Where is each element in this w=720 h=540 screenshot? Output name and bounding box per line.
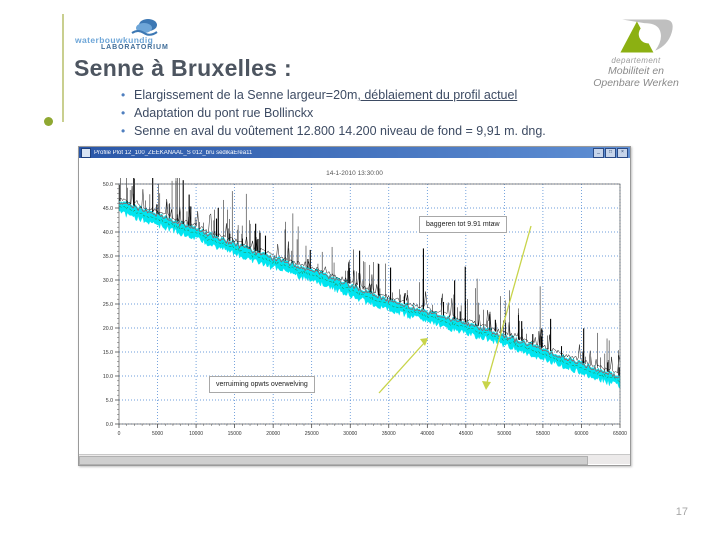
annotation-verruiming: verruiming opwts overwelving [209,376,315,393]
svg-text:50.0: 50.0 [103,182,113,188]
app-icon [81,148,91,158]
minimize-button[interactable]: _ [593,148,604,158]
profile-chart[interactable]: 0.05.010.015.020.025.030.035.040.045.050… [79,178,630,460]
svg-text:10.0: 10.0 [103,374,113,380]
chart-canvas: 0.05.010.015.020.025.030.035.040.045.050… [79,178,630,460]
svg-text:0.0: 0.0 [106,422,113,428]
logo-line-2: LABORATORIUM [101,44,169,51]
svg-text:40.0: 40.0 [103,230,113,236]
svg-text:5000: 5000 [152,431,163,437]
window-title-text: Profile Plot 12_100_ZEEKANAAL_S 012_bru … [94,150,252,156]
svg-text:5.0: 5.0 [106,398,113,404]
svg-text:30000: 30000 [343,431,357,437]
bullet-text-3: Senne en aval du voûtement 12.800 14.200… [134,124,546,138]
left-accent-rule [62,14,64,122]
svg-text:30.0: 30.0 [103,278,113,284]
svg-text:25000: 25000 [305,431,319,437]
slide: waterbouwkundig LABORATORIUM departement… [0,0,720,540]
window-controls[interactable]: _ □ × [593,148,628,158]
bullet-underlined-1: , déblaiement du profil actuel [357,88,517,102]
window-body: 14-1-2010 13:30:00 0.05.010.015.020.025.… [79,158,630,464]
mow-triangle-swoosh-icon [576,14,696,58]
left-accent-dot [44,117,53,126]
horizontal-scrollbar[interactable] [79,454,630,464]
svg-text:50000: 50000 [497,431,511,437]
svg-text:35000: 35000 [382,431,396,437]
bullet-text-1: Elargissement de la Senne largeur=20m [134,88,357,102]
svg-text:55000: 55000 [536,431,550,437]
svg-text:65000: 65000 [613,431,627,437]
svg-text:0: 0 [118,431,121,437]
plot-timestamp: 14-1-2010 13:30:00 [79,170,630,177]
bullet-item-1: Elargissement de la Senne largeur=20m, d… [120,86,620,104]
scrollbar-thumb[interactable] [79,456,588,465]
page-title: Senne à Bruxelles : [74,55,292,82]
waterbouwkundig-laboratorium-logo: waterbouwkundig LABORATORIUM [75,18,195,54]
svg-text:15.0: 15.0 [103,350,113,356]
page-number: 17 [676,506,688,518]
svg-text:40000: 40000 [420,431,434,437]
svg-text:35.0: 35.0 [103,254,113,260]
svg-text:15000: 15000 [228,431,242,437]
bullet-list: Elargissement de la Senne largeur=20m, d… [120,86,620,140]
svg-text:20000: 20000 [266,431,280,437]
svg-text:10000: 10000 [189,431,203,437]
svg-text:20.0: 20.0 [103,326,113,332]
bullet-item-3: Senne en aval du voûtement 12.800 14.200… [120,122,620,140]
profile-plot-window[interactable]: Profile Plot 12_100_ZEEKANAAL_S 012_bru … [78,146,631,466]
svg-text:60000: 60000 [575,431,589,437]
window-title-bar[interactable]: Profile Plot 12_100_ZEEKANAAL_S 012_bru … [79,147,630,158]
svg-text:25.0: 25.0 [103,302,113,308]
bullet-text-2: Adaptation du pont rue Bollinckx [134,106,313,120]
close-button[interactable]: × [617,148,628,158]
svg-text:45000: 45000 [459,431,473,437]
svg-text:45.0: 45.0 [103,206,113,212]
mow-line-1: Mobiliteit en [576,65,696,77]
bullet-item-2: Adaptation du pont rue Bollinckx [120,104,620,122]
mow-logo: departement Mobiliteit en Openbare Werke… [576,14,696,92]
maximize-button[interactable]: □ [605,148,616,158]
annotation-baggeren: baggeren tot 9.91 mtaw [419,216,507,233]
